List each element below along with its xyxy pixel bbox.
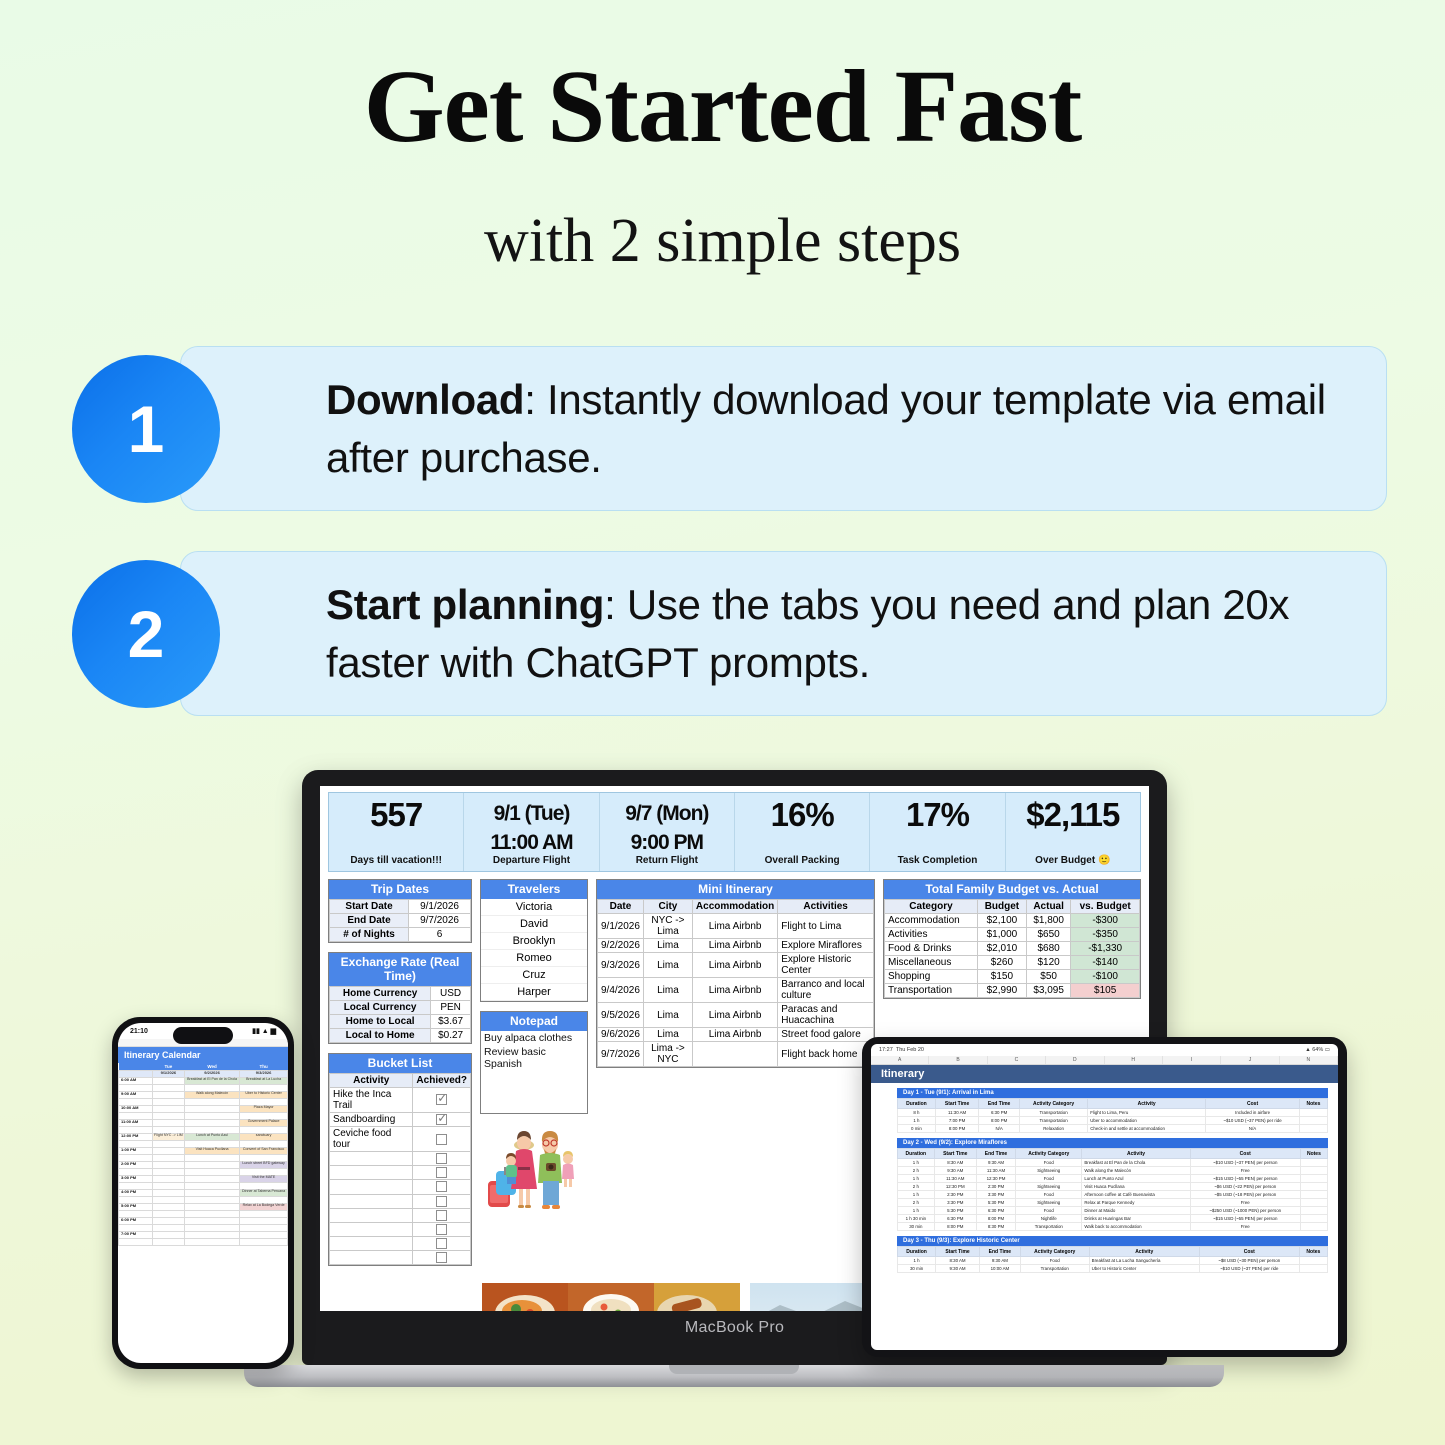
budget-category[interactable]: Food & Drinks	[885, 942, 978, 956]
cell-activity[interactable]: Dinner at Maido	[1082, 1207, 1190, 1215]
bucket-activity[interactable]	[330, 1152, 413, 1166]
calendar-hour-label: 11:00 AM	[119, 1120, 153, 1127]
calendar-row: 12:00 PMFlight NYC -> LIMLunch at Punto …	[119, 1134, 288, 1141]
actual-amount[interactable]: $650	[1026, 928, 1070, 942]
cell-activity[interactable]: Drinks at Huaringas Bar	[1082, 1215, 1190, 1223]
cell-notes[interactable]	[1299, 1125, 1327, 1133]
table-row	[330, 1166, 471, 1180]
mini-city[interactable]: Lima	[643, 978, 692, 1003]
cell-end-time[interactable]: 11:30 AM	[976, 1167, 1015, 1175]
cell-duration[interactable]: 2 h	[898, 1167, 935, 1175]
row-value[interactable]: $3.67	[431, 1015, 471, 1029]
vs-budget-amount[interactable]: $105	[1071, 984, 1140, 998]
calendar-cell[interactable]	[184, 1225, 239, 1232]
mini-date[interactable]: 9/2/2026	[598, 939, 644, 953]
calendar-cell[interactable]	[152, 1232, 184, 1239]
budget-category[interactable]: Transportation	[885, 984, 978, 998]
cell-activity-category[interactable]: Food	[1016, 1175, 1082, 1183]
calendar-cell[interactable]: Walk along Malecón	[184, 1092, 239, 1099]
calendar-cell[interactable]: Relax at La Bodega Verde	[240, 1204, 288, 1211]
calendar-cell[interactable]	[184, 1099, 239, 1106]
itinerary-day-table: DurationStart TimeEnd TimeActivity Categ…	[897, 1148, 1328, 1231]
bucket-checkbox-cell[interactable]	[413, 1166, 471, 1180]
mini-date[interactable]: 9/7/2026	[598, 1042, 644, 1067]
calendar-cell[interactable]: Breakfast at El Pan de la Chola	[184, 1078, 239, 1085]
itinerary-calendar-grid[interactable]: Tue Wed Thu 9/1/2026 9/2/2026 9/3/2026 6…	[118, 1063, 288, 1246]
cell-cost[interactable]: ~$6 USD (~22 PEN) per person	[1190, 1183, 1300, 1191]
traveler-name[interactable]: Brooklyn	[481, 933, 587, 950]
calendar-cell[interactable]: Flight NYC -> LIM	[152, 1134, 184, 1141]
panel-column-travelers: Travelers VictoriaDavidBrooklynRomeoCruz…	[480, 879, 588, 1275]
cell-start-time[interactable]: 9:30 AM	[934, 1167, 976, 1175]
checkbox-icon[interactable]	[436, 1114, 447, 1125]
budget-amount[interactable]: $2,010	[977, 942, 1026, 956]
row-value[interactable]: USD	[431, 987, 471, 1001]
itinerary-day-header[interactable]: Day 2 - Wed (9/2): Explore Miraflores	[897, 1138, 1328, 1148]
vs-budget-amount[interactable]: -$100	[1071, 970, 1140, 984]
bucket-checkbox-cell[interactable]	[413, 1152, 471, 1166]
mini-activity[interactable]: Flight back home	[778, 1042, 874, 1067]
budget-category[interactable]: Shopping	[885, 970, 978, 984]
calendar-row: 6:00 AMBreakfast at El Pan de la CholaBr…	[119, 1078, 288, 1085]
table-row	[330, 1180, 471, 1194]
actual-amount[interactable]: $680	[1026, 942, 1070, 956]
cell-activity-category[interactable]: Sightseeing	[1016, 1199, 1082, 1207]
calendar-cell[interactable]	[184, 1190, 239, 1197]
calendar-cell[interactable]	[152, 1197, 184, 1204]
checkbox-icon[interactable]	[436, 1210, 447, 1221]
cell-notes[interactable]	[1300, 1183, 1327, 1191]
cell-activity-category[interactable]: Sightseeing	[1016, 1167, 1082, 1175]
cell-activity-category[interactable]: Transportation	[1019, 1117, 1087, 1125]
cell-duration[interactable]: 1 h	[898, 1207, 935, 1215]
cell-start-time[interactable]: 9:30 AM	[936, 1265, 980, 1273]
step-title-2: Start planning	[326, 581, 604, 628]
mini-accommodation[interactable]: Lima Airbnb	[692, 1003, 777, 1028]
cell-notes[interactable]	[1300, 1223, 1327, 1231]
mini-date[interactable]: 9/3/2026	[598, 953, 644, 978]
budget-panel: Total Family Budget vs. Actual Category …	[883, 879, 1141, 999]
cell-end-time[interactable]: 8:00 PM	[979, 1117, 1020, 1125]
cell-end-time[interactable]: 8:00 PM	[976, 1215, 1015, 1223]
calendar-cell[interactable]	[152, 1155, 184, 1162]
checkbox-icon[interactable]	[436, 1134, 447, 1145]
cell-notes[interactable]	[1299, 1257, 1327, 1265]
vs-budget-amount[interactable]: -$350	[1071, 928, 1140, 942]
bucket-checkbox-cell[interactable]	[413, 1251, 471, 1265]
cell-activity[interactable]: Walk along the Malecón	[1082, 1167, 1190, 1175]
calendar-cell[interactable]	[184, 1155, 239, 1162]
calendar-cell[interactable]	[152, 1190, 184, 1197]
cell-duration[interactable]: 1 h	[898, 1191, 935, 1199]
mini-activity[interactable]: Barranco and local culture	[778, 978, 874, 1003]
cell-end-time[interactable]: 5:30 PM	[976, 1199, 1015, 1207]
vs-budget-amount[interactable]: -$140	[1071, 956, 1140, 970]
calendar-cell[interactable]	[152, 1211, 184, 1218]
cell-cost[interactable]: ~$250 USD (~1000 PEN) per person	[1190, 1207, 1300, 1215]
cell-start-time[interactable]: 2:30 PM	[934, 1191, 976, 1199]
cell-cost[interactable]: Free	[1190, 1167, 1300, 1175]
calendar-cell[interactable]	[152, 1085, 184, 1092]
calendar-cell[interactable]: Lunch street BFD gateway	[240, 1162, 288, 1169]
cell-cost[interactable]: ~$5 USD (~18 PEN) per person	[1190, 1191, 1300, 1199]
actual-amount[interactable]: $1,800	[1026, 914, 1070, 928]
actual-amount[interactable]: $50	[1026, 970, 1070, 984]
calendar-cell[interactable]	[184, 1169, 239, 1176]
cell-activity[interactable]: Walk back to accommodation	[1082, 1223, 1190, 1231]
calendar-cell[interactable]	[184, 1211, 239, 1218]
mini-activity[interactable]: Flight to Lima	[778, 914, 874, 939]
bucket-checkbox-cell[interactable]	[413, 1194, 471, 1208]
notepad-body[interactable]: Buy alpaca clothes Review basic Spanish	[481, 1031, 587, 1113]
cell-activity-category[interactable]: Transportation	[1016, 1223, 1082, 1231]
checkbox-icon[interactable]	[436, 1252, 447, 1263]
calendar-cell[interactable]	[240, 1218, 288, 1225]
calendar-cell[interactable]	[184, 1218, 239, 1225]
mini-city[interactable]: NYC -> Lima	[643, 914, 692, 939]
itinerary-day-header[interactable]: Day 3 - Thu (9/3): Explore Historic Cent…	[897, 1236, 1328, 1246]
cell-activity[interactable]: Uber to Historic Center	[1089, 1265, 1199, 1273]
calendar-cell[interactable]	[152, 1218, 184, 1225]
checkbox-icon[interactable]	[436, 1181, 447, 1192]
kpi-value: $2,115	[1006, 798, 1140, 833]
cell-notes[interactable]	[1300, 1207, 1327, 1215]
checkbox-icon[interactable]	[436, 1238, 447, 1249]
bucket-checkbox-cell[interactable]	[413, 1113, 471, 1127]
cell-duration[interactable]: 1 h 30 min	[898, 1215, 935, 1223]
mini-activity[interactable]: Explore Miraflores	[778, 939, 874, 953]
mini-accommodation[interactable]: Lima Airbnb	[692, 939, 777, 953]
mini-city[interactable]: Lima	[643, 939, 692, 953]
budget-amount[interactable]: $150	[977, 970, 1026, 984]
cell-notes[interactable]	[1299, 1117, 1327, 1125]
bucket-activity[interactable]	[330, 1222, 413, 1236]
cell-duration[interactable]: 1 h	[898, 1159, 935, 1167]
cell-cost[interactable]: ~$15 USD (~55 PEN) per person	[1190, 1215, 1300, 1223]
col-activity: Activity	[1089, 1247, 1199, 1257]
mini-city[interactable]: Lima -> NYC	[643, 1042, 692, 1067]
calendar-cell[interactable]	[184, 1120, 239, 1127]
spreadsheet-column-headers[interactable]: ABCDHIJN	[871, 1056, 1338, 1065]
budget-category[interactable]: Activities	[885, 928, 978, 942]
calendar-cell[interactable]	[152, 1113, 184, 1120]
calendar-cell[interactable]	[152, 1120, 184, 1127]
calendar-cell[interactable]	[184, 1232, 239, 1239]
cell-end-time[interactable]: 3:30 PM	[976, 1191, 1015, 1199]
cell-duration[interactable]: 2 h	[898, 1199, 935, 1207]
cell-notes[interactable]	[1300, 1191, 1327, 1199]
cell-activity-category[interactable]: Sightseeing	[1016, 1183, 1082, 1191]
cell-duration[interactable]: 30 min	[898, 1223, 935, 1231]
vs-budget-amount[interactable]: -$1,330	[1071, 942, 1140, 956]
step-card-2[interactable]: Start planning: Use the tabs you need an…	[180, 551, 1387, 716]
calendar-cell[interactable]	[152, 1176, 184, 1183]
calendar-cell[interactable]	[240, 1225, 288, 1232]
phone-sheet-title: Itinerary Calendar	[118, 1047, 288, 1063]
traveler-name[interactable]: Victoria	[481, 899, 587, 916]
traveler-name[interactable]: David	[481, 916, 587, 933]
calendar-cell[interactable]	[152, 1162, 184, 1169]
calendar-cell[interactable]: sanctuary	[240, 1134, 288, 1141]
checkbox-icon[interactable]	[436, 1196, 447, 1207]
checkbox-icon[interactable]	[436, 1094, 447, 1105]
cell-start-time[interactable]: 11:30 AM	[934, 1175, 976, 1183]
calendar-cell[interactable]	[184, 1106, 239, 1113]
cell-activity[interactable]: Visit Huaca Pucllana	[1082, 1183, 1190, 1191]
bucket-checkbox-cell[interactable]	[413, 1236, 471, 1250]
cell-duration[interactable]: 0 min	[898, 1125, 936, 1133]
calendar-cell[interactable]	[184, 1183, 239, 1190]
calendar-cell[interactable]	[152, 1099, 184, 1106]
calendar-cell[interactable]	[152, 1204, 184, 1211]
cell-start-time[interactable]: 12:30 PM	[934, 1183, 976, 1191]
bucket-activity[interactable]	[330, 1208, 413, 1222]
bucket-activity[interactable]	[330, 1180, 413, 1194]
bucket-checkbox-cell[interactable]	[413, 1222, 471, 1236]
cell-end-time[interactable]: 9:30 AM	[976, 1159, 1015, 1167]
cell-start-time[interactable]: 8:00 PM	[935, 1125, 978, 1133]
cell-cost[interactable]: Free	[1190, 1199, 1300, 1207]
vs-budget-amount[interactable]: -$300	[1071, 914, 1140, 928]
calendar-cell[interactable]: Lunch at Punto Azul	[184, 1134, 239, 1141]
cell-start-time[interactable]: 11:30 AM	[935, 1109, 978, 1117]
cell-duration[interactable]: 8 h	[898, 1109, 936, 1117]
col-duration: Duration	[898, 1247, 936, 1257]
cell-activity-category[interactable]: Food	[1016, 1159, 1082, 1167]
calendar-cell[interactable]	[184, 1204, 239, 1211]
cell-notes[interactable]	[1299, 1265, 1327, 1273]
cell-activity[interactable]: Flight to Lima, Peru	[1088, 1109, 1206, 1117]
budget-amount[interactable]: $260	[977, 956, 1026, 970]
cell-cost[interactable]: Included in airfare	[1206, 1109, 1300, 1117]
cell-cost[interactable]: ~$10 USD (~37 PEN) per ride	[1206, 1117, 1300, 1125]
calendar-cell[interactable]: Breakfast at La Lucha	[240, 1078, 288, 1085]
mini-city[interactable]: Lima	[643, 953, 692, 978]
calendar-cell[interactable]	[184, 1176, 239, 1183]
cell-duration[interactable]: 1 h	[898, 1117, 936, 1125]
calendar-cell[interactable]: Visit the MATE	[240, 1176, 288, 1183]
mini-date[interactable]: 9/1/2026	[598, 914, 644, 939]
mini-activity[interactable]: Paracas and Huacachina	[778, 1003, 874, 1028]
battery-percent: 64%	[1312, 1047, 1323, 1053]
calendar-cell[interactable]	[240, 1211, 288, 1218]
calendar-cell[interactable]: Dinner at Taberna Peruana	[240, 1190, 288, 1197]
cell-notes[interactable]	[1300, 1215, 1327, 1223]
column-header-i[interactable]: I	[1163, 1056, 1221, 1064]
calendar-cell[interactable]	[240, 1232, 288, 1239]
bucket-activity[interactable]	[330, 1166, 413, 1180]
mini-city[interactable]: Lima	[643, 1003, 692, 1028]
calendar-cell[interactable]	[152, 1106, 184, 1113]
table-row: Transportation$2,990$3,095$105	[885, 984, 1140, 998]
mini-city[interactable]: Lima	[643, 1028, 692, 1042]
bucket-checkbox-cell[interactable]	[413, 1180, 471, 1194]
cell-notes[interactable]	[1300, 1199, 1327, 1207]
table-row: 9/4/2026LimaLima AirbnbBarranco and loca…	[598, 978, 874, 1003]
calendar-cell[interactable]	[184, 1239, 239, 1246]
bucket-checkbox-cell[interactable]	[413, 1127, 471, 1152]
mini-date[interactable]: 9/6/2026	[598, 1028, 644, 1042]
table-row: 9/5/2026LimaLima AirbnbParacas and Huaca…	[598, 1003, 874, 1028]
mini-date[interactable]: 9/5/2026	[598, 1003, 644, 1028]
cell-start-time[interactable]: 8:30 AM	[936, 1257, 980, 1265]
calendar-row	[119, 1225, 288, 1232]
calendar-cell[interactable]	[152, 1169, 184, 1176]
cell-activity[interactable]: Check-in and settle at accommodation	[1088, 1125, 1206, 1133]
calendar-cell[interactable]	[152, 1183, 184, 1190]
calendar-cell[interactable]	[152, 1078, 184, 1085]
cell-cost[interactable]: ~$10 USD (~37 PEN) per person	[1190, 1159, 1300, 1167]
bucket-checkbox-cell[interactable]	[413, 1208, 471, 1222]
calendar-cell[interactable]	[152, 1148, 184, 1155]
column-header-j[interactable]: J	[1221, 1056, 1279, 1064]
calendar-cell[interactable]: Visit Huaca Pucllana	[184, 1148, 239, 1155]
calendar-hour-label: 6:00 AM	[119, 1078, 153, 1085]
cell-end-time[interactable]: 10:00 AM	[979, 1265, 1020, 1273]
step-title-1: Download	[326, 376, 524, 423]
budget-amount[interactable]: $2,100	[977, 914, 1026, 928]
row-value[interactable]: 6	[409, 928, 471, 942]
checkbox-icon[interactable]	[436, 1224, 447, 1235]
cell-notes[interactable]	[1300, 1159, 1327, 1167]
column-header-b[interactable]: B	[929, 1056, 987, 1064]
cell-cost[interactable]: ~$10 USD (~37 PEN) per ride	[1199, 1265, 1299, 1273]
column-header-d[interactable]: D	[1046, 1056, 1104, 1064]
checkbox-icon[interactable]	[436, 1153, 447, 1164]
cell-start-time[interactable]: 7:00 PM	[935, 1117, 978, 1125]
cell-activity[interactable]: Uber to accommodation	[1088, 1117, 1206, 1125]
itinerary-day-header[interactable]: Day 1 - Tue (9/1): Arrival in Lima	[897, 1088, 1328, 1098]
calendar-cell[interactable]: Uber to Historic Center	[240, 1092, 288, 1099]
calendar-cell[interactable]	[184, 1197, 239, 1204]
column-header-h[interactable]: H	[1105, 1056, 1163, 1064]
calendar-cell[interactable]	[152, 1092, 184, 1099]
cell-cost[interactable]: Free	[1190, 1223, 1300, 1231]
calendar-cell[interactable]: Convent of San Francisco	[240, 1148, 288, 1155]
row-key: Local Currency	[330, 1001, 431, 1015]
row-value[interactable]: PEN	[431, 1001, 471, 1015]
column-header-c[interactable]: C	[988, 1056, 1046, 1064]
actual-amount[interactable]: $3,095	[1026, 984, 1070, 998]
cell-activity[interactable]: Afternoon coffee at Café Buenavista	[1082, 1191, 1190, 1199]
column-header-a[interactable]: A	[871, 1056, 929, 1064]
cell-duration[interactable]: 30 min	[898, 1265, 936, 1273]
cell-activity-category[interactable]: Food	[1020, 1257, 1089, 1265]
cell-notes[interactable]	[1300, 1167, 1327, 1175]
calendar-cell[interactable]	[240, 1239, 288, 1246]
traveler-name[interactable]: Romeo	[481, 950, 587, 967]
cell-notes[interactable]	[1300, 1175, 1327, 1183]
mini-accommodation[interactable]: Lima Airbnb	[692, 914, 777, 939]
cell-end-time[interactable]: 8:30 PM	[976, 1223, 1015, 1231]
row-value[interactable]: $0.27	[431, 1029, 471, 1043]
mini-activity[interactable]: Explore Historic Center	[778, 953, 874, 978]
mini-accommodation[interactable]: Lima Airbnb	[692, 978, 777, 1003]
cell-activity[interactable]: Lunch at Punto Azul	[1082, 1175, 1190, 1183]
bucket-activity[interactable]	[330, 1194, 413, 1208]
exchange-rate-table: Home Currency USD Local Currency PEN Hom…	[329, 986, 471, 1043]
column-header-n[interactable]: N	[1280, 1056, 1338, 1064]
col-end-time: End Time	[979, 1099, 1020, 1109]
mini-accommodation[interactable]	[692, 1042, 777, 1067]
traveler-name[interactable]: Harper	[481, 984, 587, 1001]
cell-start-time[interactable]: 6:30 PM	[934, 1215, 976, 1223]
cell-end-time[interactable]: 6:30 PM	[979, 1109, 1020, 1117]
row-value[interactable]: 9/7/2026	[409, 914, 471, 928]
budget-amount[interactable]: $1,000	[977, 928, 1026, 942]
cell-activity[interactable]: Relax at Parque Kennedy	[1082, 1199, 1190, 1207]
cell-cost[interactable]: ~$8 USD (~30 PEN) per person	[1199, 1257, 1299, 1265]
cell-cost[interactable]: ~$15 USD (~55 PEN) per person	[1190, 1175, 1300, 1183]
cell-cost[interactable]: N/A	[1206, 1125, 1300, 1133]
cell-duration[interactable]: 2 h	[898, 1183, 935, 1191]
cell-activity-category[interactable]: Food	[1016, 1207, 1082, 1215]
cell-notes[interactable]	[1299, 1109, 1327, 1117]
cell-activity-category[interactable]: Transportation	[1020, 1265, 1089, 1273]
cell-end-time[interactable]: N/A	[979, 1125, 1020, 1133]
cell-duration[interactable]: 1 h	[898, 1257, 936, 1265]
calendar-cell[interactable]: Government Palace	[240, 1120, 288, 1127]
calendar-cell[interactable]: Plaza Mayor	[240, 1106, 288, 1113]
calendar-cell[interactable]	[152, 1239, 184, 1246]
bucket-activity[interactable]: Sandboarding	[330, 1113, 413, 1127]
table-row: 9/2/2026LimaLima AirbnbExplore Miraflore…	[598, 939, 874, 953]
cell-start-time[interactable]: 5:30 PM	[934, 1207, 976, 1215]
calendar-cell[interactable]	[152, 1225, 184, 1232]
bucket-activity[interactable]: Hike the Inca Trail	[330, 1088, 413, 1113]
cell-duration[interactable]: 1 h	[898, 1175, 935, 1183]
calendar-cell[interactable]	[184, 1162, 239, 1169]
cell-start-time[interactable]: 8:00 PM	[934, 1223, 976, 1231]
exchange-rate-title: Exchange Rate (Real Time)	[329, 953, 471, 986]
budget-category[interactable]: Miscellaneous	[885, 956, 978, 970]
traveler-name[interactable]: Cruz	[481, 967, 587, 984]
mini-accommodation[interactable]: Lima Airbnb	[692, 953, 777, 978]
bucket-checkbox-cell[interactable]	[413, 1088, 471, 1113]
table-row: 9/7/2026Lima -> NYCFlight back home	[598, 1042, 874, 1067]
bucket-activity[interactable]	[330, 1251, 413, 1265]
cell-end-time[interactable]: 6:30 PM	[976, 1207, 1015, 1215]
cell-start-time[interactable]: 8:30 AM	[934, 1159, 976, 1167]
cell-end-time[interactable]: 2:30 PM	[976, 1183, 1015, 1191]
mini-accommodation[interactable]: Lima Airbnb	[692, 1028, 777, 1042]
cell-end-time[interactable]: 9:30 AM	[979, 1257, 1020, 1265]
table-row: 9/1/2026NYC -> LimaLima AirbnbFlight to …	[598, 914, 874, 939]
cell-activity-category[interactable]: Relaxation	[1019, 1125, 1087, 1133]
cell-activity[interactable]: Breakfast at El Pan de la Chola	[1082, 1159, 1190, 1167]
cell-activity[interactable]: Breakfast at La Lucha Sanguchería	[1089, 1257, 1199, 1265]
budget-category[interactable]: Accommodation	[885, 914, 978, 928]
mini-activity[interactable]: Street food galore	[778, 1028, 874, 1042]
cell-activity-category[interactable]: Transportation	[1019, 1109, 1087, 1117]
mini-date[interactable]: 9/4/2026	[598, 978, 644, 1003]
checkbox-icon[interactable]	[436, 1167, 447, 1178]
bucket-activity[interactable]	[330, 1236, 413, 1250]
budget-amount[interactable]: $2,990	[977, 984, 1026, 998]
step-row-1: Download: Instantly download your templa…	[72, 346, 1387, 511]
cell-end-time[interactable]: 12:30 PM	[976, 1175, 1015, 1183]
calendar-cell[interactable]	[184, 1113, 239, 1120]
step-card-1[interactable]: Download: Instantly download your templa…	[180, 346, 1387, 511]
table-row: 8 h11:30 AM6:30 PMTransportationFlight t…	[898, 1109, 1328, 1117]
bucket-activity[interactable]: Ceviche food tour	[330, 1127, 413, 1152]
actual-amount[interactable]: $120	[1026, 956, 1070, 970]
row-value[interactable]: 9/1/2026	[409, 900, 471, 914]
cell-start-time[interactable]: 3:30 PM	[934, 1199, 976, 1207]
calendar-cell[interactable]	[152, 1141, 184, 1148]
cell-activity-category[interactable]: Food	[1016, 1191, 1082, 1199]
cell-activity-category[interactable]: Nightlife	[1016, 1215, 1082, 1223]
